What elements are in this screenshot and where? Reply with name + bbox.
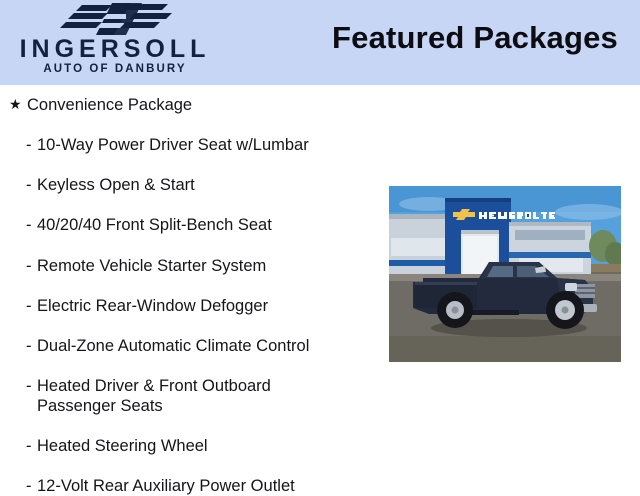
- feature-text: Heated Driver & Front Outboard Passenger…: [37, 376, 271, 416]
- feature-text: Dual-Zone Automatic Climate Control: [37, 336, 309, 356]
- vehicle-photo: [389, 186, 621, 362]
- star-bullet-icon: ★: [9, 95, 27, 114]
- dash-bullet-icon: -: [26, 135, 37, 155]
- dash-bullet-icon: -: [26, 376, 37, 396]
- dash-bullet-icon: -: [26, 215, 37, 235]
- brand-subtitle: AUTO OF DANBURY: [0, 64, 230, 76]
- dash-bullet-icon: -: [26, 296, 37, 316]
- feature-text: 10-Way Power Driver Seat w/Lumbar: [37, 135, 309, 155]
- dash-bullet-icon: -: [26, 175, 37, 195]
- feature-list-item: -Dual-Zone Automatic Climate Control: [0, 316, 390, 356]
- brand-logo: INGERSOLL AUTO OF DANBURY: [0, 2, 230, 84]
- dash-bullet-icon: -: [26, 476, 37, 496]
- feature-list-item: -Heated Steering Wheel: [0, 416, 390, 456]
- feature-list-item: -10-Way Power Driver Seat w/Lumbar: [0, 115, 390, 155]
- feature-text: Heated Steering Wheel: [37, 436, 208, 456]
- dash-bullet-icon: -: [26, 336, 37, 356]
- vehicle-photo-image: [389, 186, 621, 362]
- feature-list-item: -Keyless Open & Start: [0, 155, 390, 195]
- content-area: ★Convenience Package-10-Way Power Driver…: [0, 85, 640, 480]
- feature-list: ★Convenience Package-10-Way Power Driver…: [0, 85, 390, 496]
- feature-text: Keyless Open & Start: [37, 175, 195, 195]
- feature-heading: ★Convenience Package: [0, 85, 390, 115]
- feature-list-item: -Remote Vehicle Starter System: [0, 236, 390, 276]
- dash-bullet-icon: -: [26, 256, 37, 276]
- feature-text: Convenience Package: [27, 95, 192, 115]
- feature-list-item: -Heated Driver & Front Outboard Passenge…: [0, 356, 390, 416]
- feature-text: Remote Vehicle Starter System: [37, 256, 266, 276]
- feature-text: Electric Rear-Window Defogger: [37, 296, 268, 316]
- header-band: INGERSOLL AUTO OF DANBURY Featured Packa…: [0, 0, 640, 85]
- winged-speed-emblem-icon: [56, 2, 174, 36]
- feature-list-item: -Electric Rear-Window Defogger: [0, 276, 390, 316]
- dash-bullet-icon: -: [26, 436, 37, 456]
- feature-list-item: -40/20/40 Front Split-Bench Seat: [0, 195, 390, 235]
- feature-text: 40/20/40 Front Split-Bench Seat: [37, 215, 272, 235]
- brand-name: INGERSOLL: [0, 37, 230, 63]
- feature-list-item: -12-Volt Rear Auxiliary Power Outlet: [0, 456, 390, 496]
- feature-text: 12-Volt Rear Auxiliary Power Outlet: [37, 476, 295, 496]
- page-title: Featured Packages: [332, 20, 618, 56]
